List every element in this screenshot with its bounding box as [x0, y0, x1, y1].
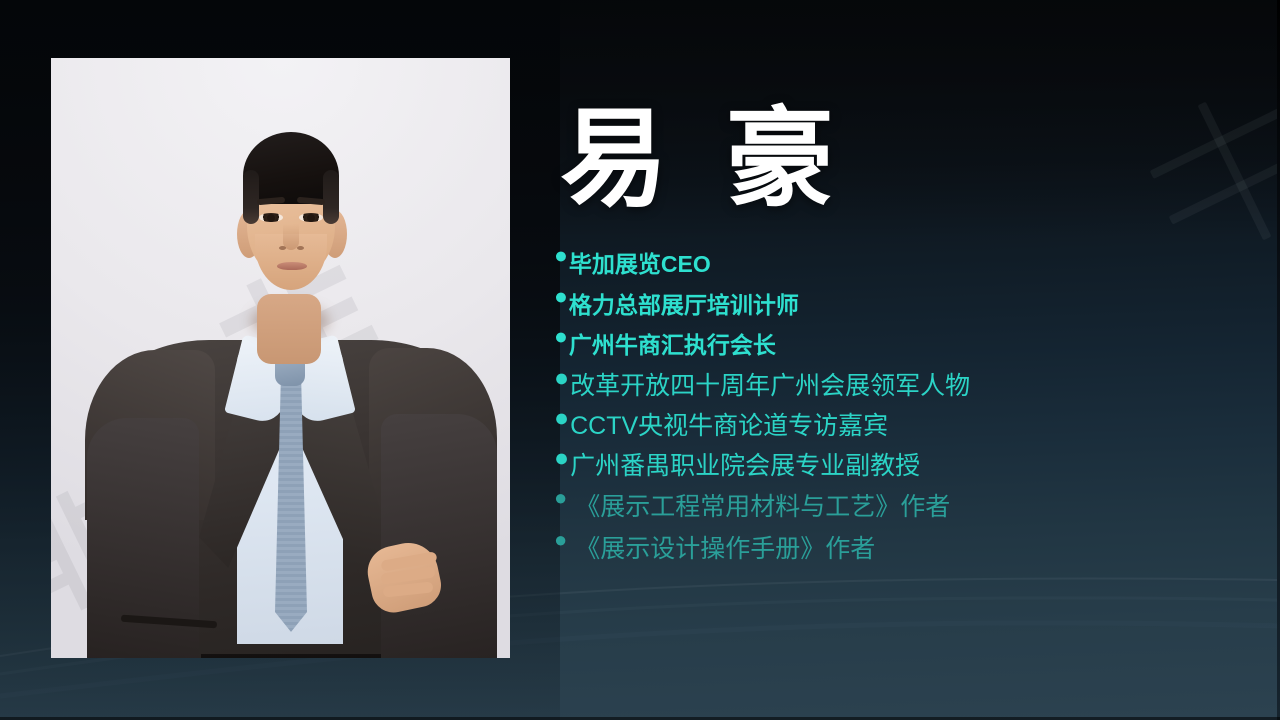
watermark-stroke-1 — [1150, 70, 1280, 179]
bullet-dot-icon: ● — [554, 285, 569, 308]
slide-content-column: 易 豪 ● 毕加展览CEO ● 格力总部展厅培训计师 ● 广州牛商汇执行会长 ●… — [540, 0, 1280, 720]
list-item: ● CCTV央视牛商论道专访嘉宾 — [554, 406, 1274, 446]
list-item: ● 毕加展览CEO — [554, 244, 1274, 285]
list-item: ● 改革开放四十周年广州会展领军人物 — [554, 366, 1274, 406]
bullet-dot-icon: ● — [554, 406, 570, 431]
list-item: ● 广州番禺职业院会展专业副教授 — [554, 446, 1274, 486]
list-item-label: 《展示设计操作手册》作者 — [575, 528, 875, 570]
list-item: ● 《展示工程常用材料与工艺》作者 — [554, 486, 1274, 528]
list-item-label: 改革开放四十周年广州会展领军人物 — [570, 366, 970, 406]
suit-arm-right — [381, 414, 497, 658]
eye-left — [259, 213, 283, 222]
bullet-dot-icon: ● — [554, 244, 569, 267]
nostril-left — [279, 246, 286, 250]
list-item: ● 格力总部展厅培训计师 — [554, 285, 1274, 326]
speaker-name-title: 易 豪 — [560, 103, 844, 216]
neck — [257, 294, 321, 364]
pupil-right — [307, 214, 315, 222]
credentials-list: ● 毕加展览CEO ● 格力总部展厅培训计师 ● 广州牛商汇执行会长 ● 改革开… — [554, 244, 1274, 570]
speaker-portrait-photo: 非 非 — [51, 58, 510, 658]
bullet-dot-icon: ● — [554, 446, 570, 471]
list-item-label: 《展示工程常用材料与工艺》作者 — [575, 486, 950, 528]
list-item-label: 格力总部展厅培训计师 — [569, 285, 799, 326]
bullet-dot-icon: ● — [554, 366, 570, 391]
presentation-slide: 非 非 — [0, 0, 1280, 720]
hair-side-right — [323, 170, 339, 224]
watermark-stroke-2 — [1169, 124, 1280, 224]
portrait-figure — [51, 58, 510, 658]
belt — [201, 654, 381, 658]
bullet-dot-icon: ● — [554, 487, 575, 509]
list-item: ● 《展示设计操作手册》作者 — [554, 528, 1274, 570]
list-item-label: 广州牛商汇执行会长 — [569, 325, 776, 366]
watermark-stroke-3 — [1198, 102, 1272, 241]
pupil-left — [267, 214, 275, 222]
mouth — [277, 262, 307, 270]
hair-side-left — [243, 170, 259, 224]
eye-right — [299, 213, 323, 222]
list-item-label: 广州番禺职业院会展专业副教授 — [570, 446, 920, 486]
list-item-label: 毕加展览CEO — [569, 244, 711, 285]
nostril-right — [297, 246, 304, 250]
list-item: ● 广州牛商汇执行会长 — [554, 325, 1274, 366]
list-item-label: CCTV央视牛商论道专访嘉宾 — [570, 406, 888, 446]
bullet-dot-icon: ● — [554, 529, 575, 551]
bullet-dot-icon: ● — [554, 325, 569, 348]
